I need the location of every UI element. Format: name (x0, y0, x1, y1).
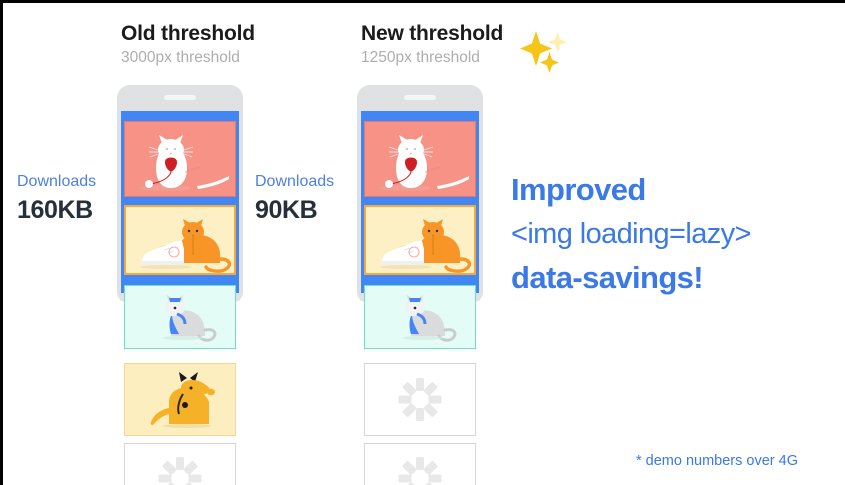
downloads-value-new: 90KB (255, 193, 334, 227)
footnote-text: * demo numbers over 4G (636, 453, 798, 469)
loading-spinner-icon (397, 377, 443, 423)
headline-line-2: <img loading=lazy> (511, 212, 841, 256)
slide-canvas: Old threshold 3000px threshold New thres… (3, 3, 845, 485)
image-card-cat-with-red-yarn[interactable] (364, 121, 476, 197)
grey-cat-with-blue-scarf-illustration (125, 286, 236, 349)
column-subtitle-new: 1250px threshold (361, 47, 503, 69)
column-header-old: Old threshold 3000px threshold (121, 21, 255, 69)
downloads-value-old: 160KB (17, 193, 96, 227)
sparkles-icon (519, 23, 575, 77)
column-subtitle-old: 3000px threshold (121, 47, 255, 69)
image-card-placeholder[interactable] (364, 363, 476, 436)
downloads-label-new: Downloads (255, 171, 334, 193)
cat-with-red-yarn-illustration (125, 122, 236, 197)
yellow-dog-illustration (125, 364, 236, 436)
headline-block: Improved <img loading=lazy> data-savings… (511, 168, 841, 300)
image-card-cat-with-red-yarn[interactable] (124, 121, 236, 197)
downloads-block-new: Downloads 90KB (255, 171, 334, 227)
headline-line-3: data-savings! (511, 256, 841, 300)
image-card-yellow-dog[interactable] (124, 363, 236, 436)
headline-line-1: Improved (511, 168, 841, 212)
image-card-grey-cat-with-blue-scarf[interactable] (124, 285, 236, 349)
phone-speaker (404, 95, 436, 100)
cat-with-red-yarn-illustration (365, 122, 476, 197)
loading-spinner-icon (157, 455, 203, 485)
grey-cat-with-blue-scarf-illustration (365, 286, 476, 349)
orange-cat-with-sneaker-illustration (366, 207, 476, 275)
image-card-placeholder[interactable] (124, 443, 236, 485)
column-title-new: New threshold (361, 21, 503, 47)
image-card-placeholder[interactable] (364, 443, 476, 485)
downloads-label-old: Downloads (17, 171, 96, 193)
column-title-old: Old threshold (121, 21, 255, 47)
orange-cat-with-sneaker-illustration (126, 207, 236, 275)
image-card-grey-cat-with-blue-scarf[interactable] (364, 285, 476, 349)
downloads-block-old: Downloads 160KB (17, 171, 96, 227)
phone-speaker (164, 95, 196, 100)
image-card-orange-cat-with-sneaker[interactable] (124, 205, 236, 275)
image-card-orange-cat-with-sneaker[interactable] (364, 205, 476, 275)
loading-spinner-icon (397, 455, 443, 485)
column-header-new: New threshold 1250px threshold (361, 21, 503, 69)
